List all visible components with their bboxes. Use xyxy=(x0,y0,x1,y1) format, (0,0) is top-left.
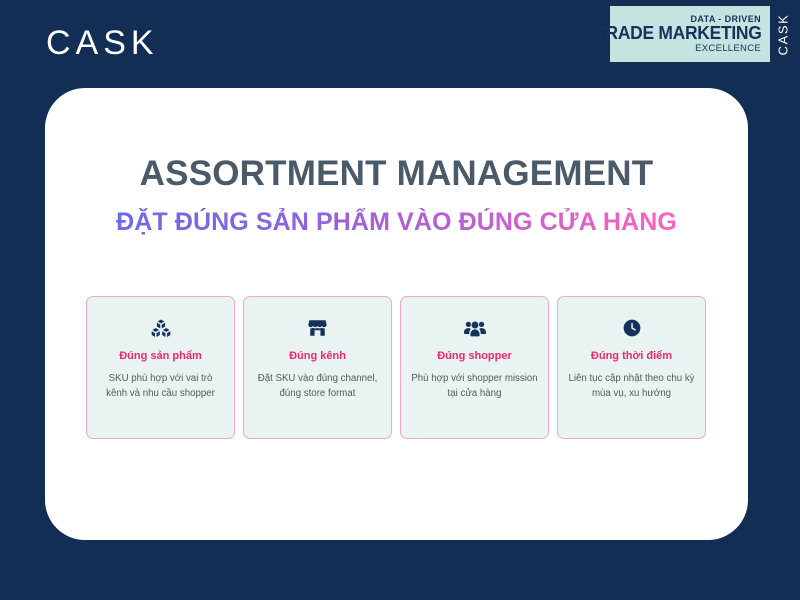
badge-box: DATA - DRIVEN TRADE MARKETING EXCELLENCE xyxy=(610,6,770,62)
card-dung-san-pham[interactable]: Đúng sản phẩm SKU phù hợp với vai trò kê… xyxy=(86,296,235,439)
store-icon xyxy=(308,317,327,339)
page-subtitle: ĐẶT ĐÚNG SẢN PHẨM VÀO ĐÚNG CỬA HÀNG xyxy=(45,208,748,237)
card-body: Phù hợp với shopper mission tại cửa hàng xyxy=(411,372,538,401)
card-title: Đúng shopper xyxy=(437,350,512,363)
card-dung-shopper[interactable]: Đúng shopper Phù hợp với shopper mission… xyxy=(400,296,549,439)
cubes-icon xyxy=(151,317,171,339)
content-panel: ASSORTMENT MANAGEMENT ĐẶT ĐÚNG SẢN PHẨM … xyxy=(45,88,748,540)
card-grid: Đúng sản phẩm SKU phù hợp với vai trò kê… xyxy=(86,296,706,439)
users-icon xyxy=(464,317,486,339)
card-dung-thoi-diem[interactable]: Đúng thời điểm Liên tục cập nhật theo ch… xyxy=(557,296,706,439)
cask-logo: CASK xyxy=(46,26,159,60)
top-bar: CASK DATA - DRIVEN TRADE MARKETING EXCEL… xyxy=(0,0,800,88)
card-title: Đúng sản phẩm xyxy=(119,350,202,363)
badge-vertical-label: CASK xyxy=(776,13,791,55)
card-body: Đặt SKU vào đúng channel, đúng store for… xyxy=(254,372,381,401)
trade-marketing-badge: DATA - DRIVEN TRADE MARKETING EXCELLENCE… xyxy=(610,6,796,62)
clock-icon xyxy=(623,317,641,339)
card-dung-kenh[interactable]: Đúng kênh Đặt SKU vào đúng channel, đúng… xyxy=(243,296,392,439)
badge-line-excellence: EXCELLENCE xyxy=(695,43,761,54)
badge-line-trade-marketing: TRADE MARKETING xyxy=(595,24,761,43)
card-body: Liên tục cập nhật theo chu kỳ mùa vụ, xu… xyxy=(568,372,695,401)
page-title: ASSORTMENT MANAGEMENT xyxy=(45,155,748,194)
card-body: SKU phù hợp với vai trò kênh và nhu cầu … xyxy=(97,372,224,401)
badge-vertical-mark: CASK xyxy=(770,6,796,62)
card-title: Đúng kênh xyxy=(289,350,346,363)
card-title: Đúng thời điểm xyxy=(591,350,672,363)
